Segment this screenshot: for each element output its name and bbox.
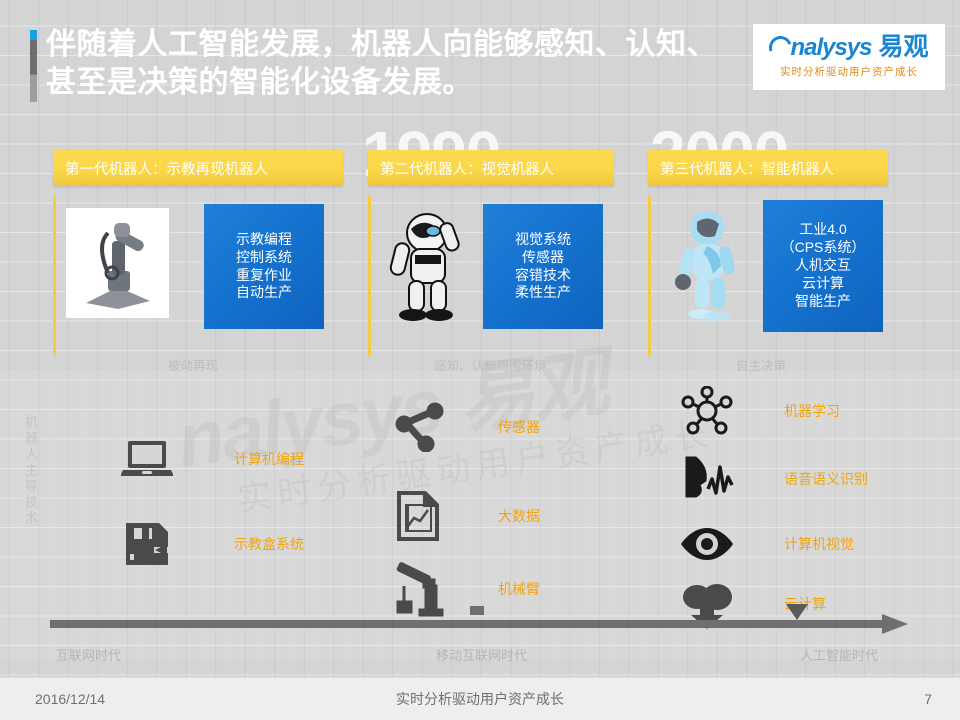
feature-item: 云计算 <box>802 275 844 293</box>
column-3-feature-box: 工业4.0 （CPS系统） 人机交互 云计算 智能生产 <box>763 200 883 332</box>
tech-item-big-data: 大数据 <box>390 487 540 545</box>
tech-label: 传感器 <box>498 417 540 437</box>
feature-item: （CPS系统） <box>781 239 866 257</box>
column-1-feature-box: 示教编程 控制系统 重复作业 自动生产 <box>204 204 324 329</box>
document-chart-icon <box>390 487 448 545</box>
tech-item-computer-programming: 计算机编程 <box>118 430 304 488</box>
generation-column-3: 第三代机器人：智能机器人 工业4.0 <box>648 150 888 356</box>
laptop-icon <box>118 430 176 488</box>
robot-photo-3 <box>659 202 755 330</box>
tech-label: 机械臂 <box>498 579 540 599</box>
page-title-line1: 伴随着人工智能发展，机器人向能够感知、认知、 <box>46 26 746 64</box>
timeline-arrow-head <box>882 614 908 634</box>
tech-label: 计算机编程 <box>234 449 304 469</box>
column-1-heading: 第一代机器人：示教再现机器人 <box>53 150 343 186</box>
timeline-tick-1 <box>470 606 484 615</box>
feature-item: 重复作业 <box>236 267 292 285</box>
era-label-1: 互联网时代 <box>56 645 121 664</box>
title-accent-bar <box>30 30 37 102</box>
share-nodes-icon <box>390 398 448 456</box>
eye-icon <box>678 515 736 573</box>
tech-label: 计算机视觉 <box>784 534 854 554</box>
feature-item: 智能生产 <box>795 293 851 311</box>
tech-item-machine-learning: 机器学习 <box>678 382 840 440</box>
feature-item: 工业4.0 <box>799 221 846 239</box>
left-axis-label: 机器人主导技术 <box>20 415 40 527</box>
feature-item: 人机交互 <box>795 257 851 275</box>
column-3-body: 工业4.0 （CPS系统） 人机交互 云计算 智能生产 <box>648 196 888 356</box>
generation-column-2: 第二代机器人：视觉机器人 视觉系统 传 <box>368 150 614 356</box>
feature-item: 传感器 <box>522 249 564 267</box>
column-1-sublabel: 被动再现 <box>168 355 218 374</box>
column-2-body: 视觉系统 传感器 容错技术 柔性生产 <box>368 196 614 356</box>
page-title: 伴随着人工智能发展，机器人向能够感知、认知、 甚至是决策的智能化设备发展。 <box>46 26 746 103</box>
tech-label: 语音语义识别 <box>784 469 868 489</box>
feature-item: 柔性生产 <box>515 284 571 302</box>
network-nodes-icon <box>678 382 736 440</box>
tech-item-teach-pendant: 示教盒系统 <box>118 515 304 573</box>
logo-tagline: 实时分析驱动用户资产成长 <box>780 64 918 79</box>
feature-item: 控制系统 <box>236 249 292 267</box>
crane-arm-icon <box>390 560 448 618</box>
robot-photo-2 <box>375 202 475 327</box>
floppy-disk-icon <box>118 515 176 573</box>
tech-item-computer-vision: 计算机视觉 <box>678 515 854 573</box>
slide-canvas: 1990 2000 nalysys 易观 实时分析驱动用户资产成长 伴随着人工智… <box>0 0 960 720</box>
tech-item-speech-recognition: 语音语义识别 <box>678 450 868 508</box>
column-2-sublabel: 感知、认知周围环境 <box>434 355 547 374</box>
tech-label: 机器学习 <box>784 401 840 421</box>
page-title-line2: 甚至是决策的智能化设备发展。 <box>46 64 746 102</box>
column-1-body: 示教编程 控制系统 重复作业 自动生产 <box>53 196 343 356</box>
footer-page-number: 7 <box>924 691 932 707</box>
logo-en-text: nalysys <box>790 36 871 60</box>
analysys-logo: nalysys 易观 实时分析驱动用户资产成长 <box>753 24 945 90</box>
era-label-3: 人工智能时代 <box>800 645 878 664</box>
era-label-2: 移动互联网时代 <box>436 645 527 664</box>
robot-photo-1 <box>66 208 169 318</box>
column-3-sublabel: 自主决策 <box>736 355 786 374</box>
tech-item-robot-arm: 机械臂 <box>390 560 540 618</box>
logo-cn-text: 易观 <box>879 35 929 60</box>
column-3-heading: 第三代机器人：智能机器人 <box>648 150 888 186</box>
footer-tagline: 实时分析驱动用户资产成长 <box>0 689 960 709</box>
speech-waveform-icon <box>678 450 736 508</box>
timeline <box>50 618 908 630</box>
column-2-heading: 第二代机器人：视觉机器人 <box>368 150 614 186</box>
timeline-marker-current <box>786 604 808 620</box>
feature-item: 容错技术 <box>515 267 571 285</box>
tech-item-sensor: 传感器 <box>390 398 540 456</box>
feature-item: 示教编程 <box>236 231 292 249</box>
slide-footer: 2016/12/14 实时分析驱动用户资产成长 7 <box>0 677 960 720</box>
feature-item: 视觉系统 <box>515 231 571 249</box>
tech-label: 示教盒系统 <box>234 534 304 554</box>
timeline-bar <box>50 620 882 628</box>
feature-item: 自动生产 <box>236 284 292 302</box>
tech-label: 大数据 <box>498 506 540 526</box>
generation-column-1: 第一代机器人：示教再现机器人 示教编程 控制系统 重复作业 自动生产 <box>53 150 343 356</box>
column-2-feature-box: 视觉系统 传感器 容错技术 柔性生产 <box>483 204 603 329</box>
